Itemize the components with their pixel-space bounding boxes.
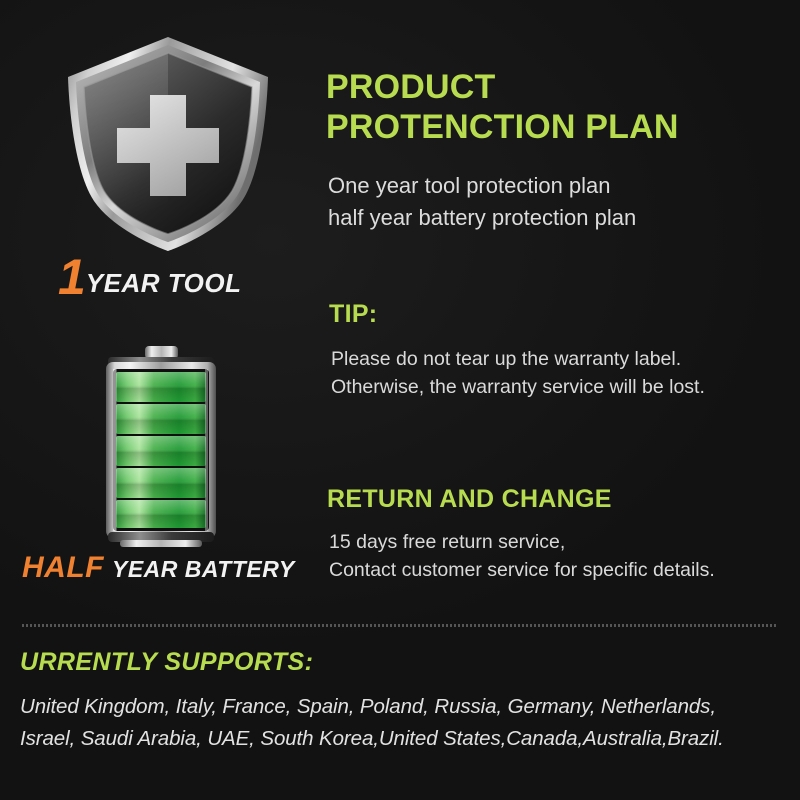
battery-full-icon (96, 344, 226, 552)
page-title: PRODUCT PROTENCTION PLAN (326, 68, 679, 148)
supported-countries-title: URRENTLY SUPPORTS: (20, 648, 313, 677)
supported-countries-line-2: Israel, Saudi Arabia, UAE, South Korea,U… (20, 727, 724, 751)
battery-warranty-label: HALFYEAR BATTERY (22, 553, 322, 583)
tool-warranty-text: YEAR TOOL (86, 268, 242, 298)
battery-warranty-text: YEAR BATTERY (112, 556, 295, 582)
badges-column: 1YEAR TOOL (0, 0, 312, 612)
tip-section-title: TIP: (329, 300, 377, 329)
supported-countries-line-1: United Kingdom, Italy, France, Spain, Po… (20, 695, 716, 719)
return-section-title: RETURN AND CHANGE (327, 485, 612, 514)
tool-warranty-label: 1YEAR TOOL (58, 252, 308, 302)
return-section-body: 15 days free return service, Contact cus… (329, 529, 715, 585)
tool-warranty-number: 1 (58, 249, 85, 305)
tip-section-body: Please do not tear up the warranty label… (331, 346, 705, 402)
battery-warranty-duration: HALF (22, 551, 104, 584)
shield-plus-icon (62, 33, 274, 255)
product-protection-poster: 1YEAR TOOL (0, 0, 800, 800)
supported-countries-section: URRENTLY SUPPORTS: United Kingdom, Italy… (0, 640, 800, 800)
section-divider (22, 624, 777, 627)
page-subtitle: One year tool protection plan half year … (328, 170, 636, 234)
